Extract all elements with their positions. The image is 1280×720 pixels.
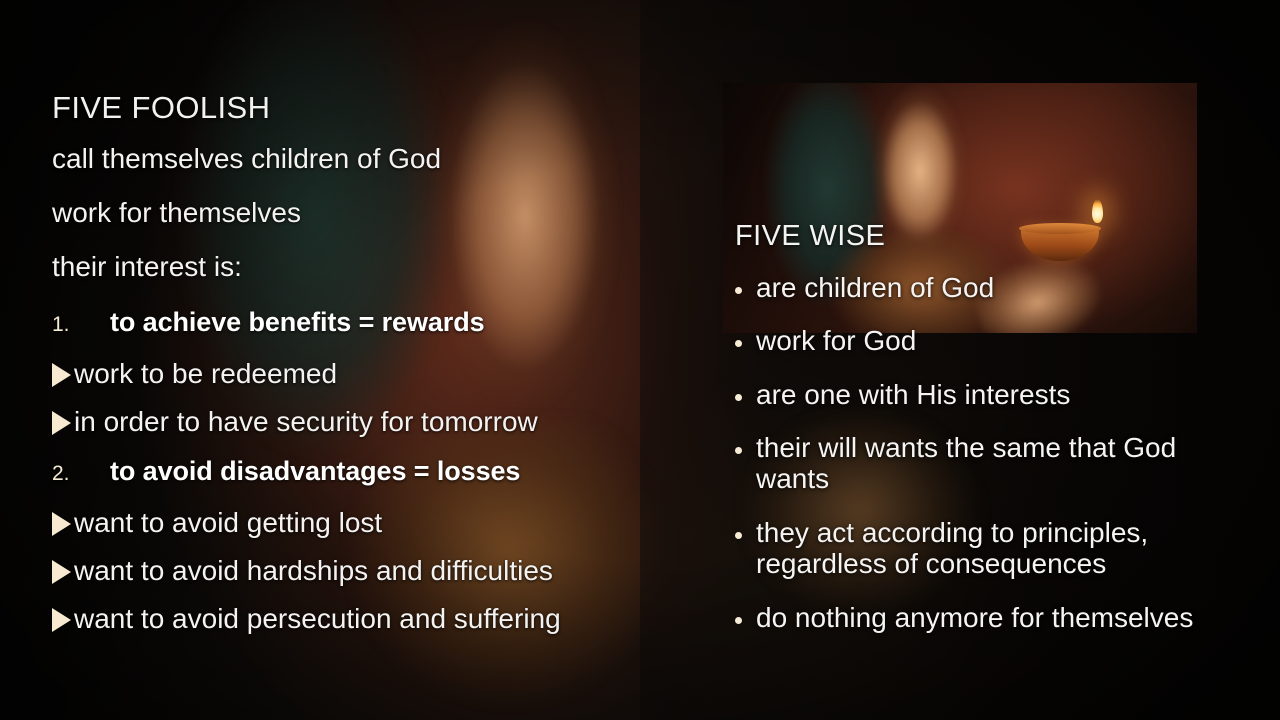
- list-item-label: do nothing anymore for themselves: [756, 602, 1193, 633]
- list-item-label: they act according to principles, regard…: [756, 517, 1255, 580]
- right-text-column: FIVE WISE are children of God work for G…: [735, 222, 1255, 655]
- list-item-label: to avoid disadvantages = losses: [110, 456, 520, 487]
- right-title: FIVE WISE: [735, 222, 1255, 251]
- list-item-label: work to be redeemed: [74, 360, 337, 388]
- dot-bullet-icon: [735, 447, 742, 454]
- left-bullet-item: in order to have security for tomorrow: [52, 408, 652, 436]
- list-item-label: want to avoid hardships and difficulties: [74, 557, 553, 585]
- dot-bullet-icon: [735, 532, 742, 539]
- triangle-bullet-icon: [52, 608, 71, 632]
- triangle-bullet-icon: [52, 363, 71, 387]
- dot-bullet-icon: [735, 287, 742, 294]
- list-item-label: in order to have security for tomorrow: [74, 408, 538, 436]
- right-bullet-item: their will wants the same that God wants: [735, 432, 1255, 495]
- list-item-label: to achieve benefits = rewards: [110, 307, 485, 338]
- left-title: FIVE FOOLISH: [52, 92, 652, 123]
- right-bullet-item: are one with His interests: [735, 379, 1255, 410]
- triangle-bullet-icon: [52, 411, 71, 435]
- left-intro-line: call themselves children of God: [52, 145, 652, 173]
- list-number: 1.: [52, 313, 110, 337]
- list-item-label: are children of God: [756, 272, 994, 303]
- list-item-label: work for God: [756, 325, 916, 356]
- left-numbered-item: 1. to achieve benefits = rewards: [52, 307, 652, 338]
- list-item-label: want to avoid persecution and suffering: [74, 605, 561, 633]
- list-number: 2.: [52, 462, 110, 486]
- list-item-label: their will wants the same that God wants: [756, 432, 1255, 495]
- list-item-label: want to avoid getting lost: [74, 509, 382, 537]
- triangle-bullet-icon: [52, 560, 71, 584]
- left-intro-line: their interest is:: [52, 253, 652, 281]
- right-bullet-item: are children of God: [735, 272, 1255, 303]
- list-item-label: are one with His interests: [756, 379, 1070, 410]
- left-bullet-item: want to avoid hardships and difficulties: [52, 557, 652, 585]
- left-bullet-item: work to be redeemed: [52, 360, 652, 388]
- flame-icon: [1092, 199, 1103, 223]
- left-numbered-item: 2. to avoid disadvantages = losses: [52, 456, 652, 487]
- triangle-bullet-icon: [52, 512, 71, 536]
- right-bullet-item: do nothing anymore for themselves: [735, 602, 1255, 633]
- left-intro-line: work for themselves: [52, 199, 652, 227]
- dot-bullet-icon: [735, 617, 742, 624]
- dot-bullet-icon: [735, 394, 742, 401]
- right-bullet-item: they act according to principles, regard…: [735, 517, 1255, 580]
- left-text-column: FIVE FOOLISH call themselves children of…: [52, 92, 652, 653]
- left-bullet-item: want to avoid persecution and suffering: [52, 605, 652, 633]
- slide: FIVE FOOLISH call themselves children of…: [0, 0, 1280, 720]
- left-bullet-item: want to avoid getting lost: [52, 509, 652, 537]
- dot-bullet-icon: [735, 340, 742, 347]
- right-bullet-item: work for God: [735, 325, 1255, 356]
